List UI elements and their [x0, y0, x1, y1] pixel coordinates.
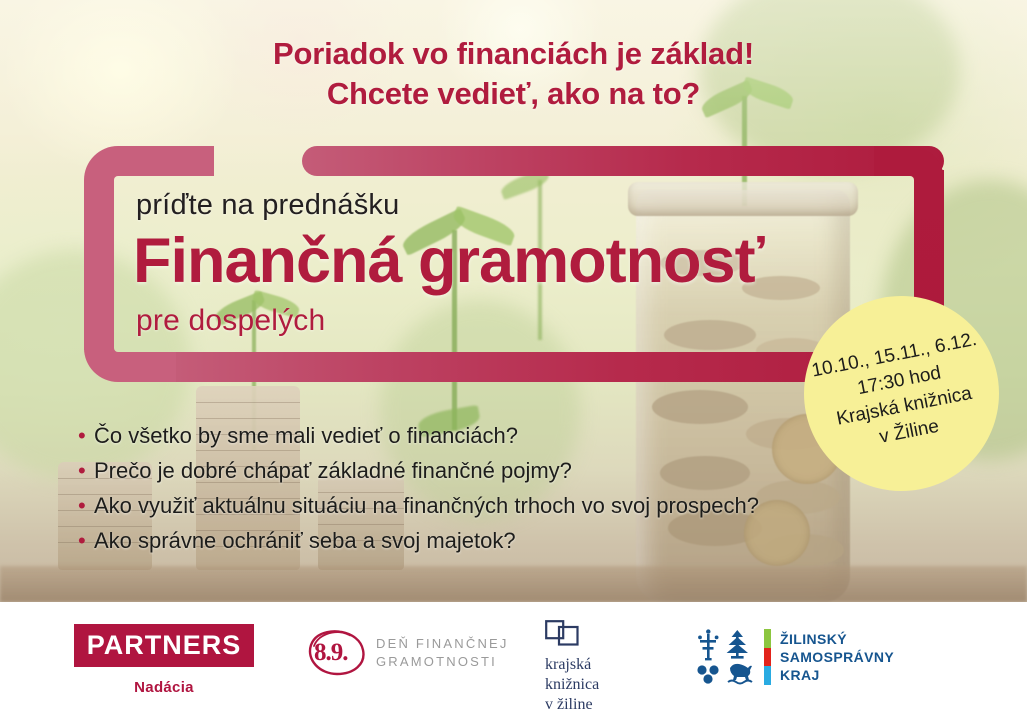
zsk-line-2: SAMOSPRÁVNY: [780, 648, 894, 666]
jar-coin: [652, 390, 748, 424]
kniznica-line-2: knižnica: [545, 675, 599, 695]
logo-partners: PARTNERS Nadácia: [74, 624, 254, 696]
coin-edge: [196, 402, 300, 403]
list-item: • Prečo je dobré chápať základné finančn…: [78, 457, 759, 484]
kniznica-wordmark: krajská knižnica v žiline: [545, 655, 599, 715]
kniznica-line-3: v žiline: [545, 695, 599, 715]
logo-krajska-kniznica: krajská knižnica v žiline: [545, 620, 599, 715]
list-item-label: Čo všetko by sme mali vedieť o financiác…: [94, 422, 518, 449]
list-item: • Čo všetko by sme mali vedieť o financi…: [78, 422, 759, 449]
partners-foundation-label: Nadácia: [74, 679, 254, 696]
list-item-label: Ako využiť aktuálnu situáciu na finančný…: [94, 492, 759, 519]
headline-line-1: Poriadok vo financiách je základ!: [0, 34, 1027, 74]
table-surface: [0, 566, 1027, 602]
jar-coin: [756, 480, 840, 514]
hand-drawn-circle-icon: 8.9.: [306, 628, 368, 678]
frame-top-bar: [302, 146, 944, 176]
logo-strip: PARTNERS Nadácia 8.9. DEŇ FINANČNEJ GRAM…: [0, 602, 1027, 720]
den-wordmark-line-2: GRAMOTNOSTI: [376, 653, 509, 671]
zsk-line-3: KRAJ: [780, 666, 894, 684]
event-info-badge: 10.10., 15.11., 6.12. 17:30 hod Krajská …: [804, 296, 999, 491]
list-item: • Ako správne ochrániť seba a svoj majet…: [78, 527, 759, 554]
frame-top-right-corner: [874, 146, 944, 208]
logo-den-financnej-gramotnosti: 8.9. DEŇ FINANČNEJ GRAMOTNOSTI: [306, 628, 509, 678]
poster: Poriadok vo financiách je základ! Chcete…: [0, 0, 1027, 720]
list-item: • Ako využiť aktuálnu situáciu na finanč…: [78, 492, 759, 519]
subtitle-text: pre dospelých: [136, 304, 325, 338]
bullet-marker-icon: •: [78, 425, 94, 447]
bullet-marker-icon: •: [78, 530, 94, 552]
event-info-badge-text: 10.10., 15.11., 6.12. 17:30 hod Krajská …: [809, 326, 993, 460]
kniznica-line-1: krajská: [545, 655, 599, 675]
partners-wordmark: PARTNERS: [74, 624, 254, 667]
den-date-number: 8.9.: [314, 639, 348, 667]
headline-line-2: Chcete vedieť, ako na to?: [0, 74, 1027, 114]
den-wordmark: DEŇ FINANČNEJ GRAMOTNOSTI: [376, 635, 509, 671]
zsk-wordmark: ŽILINSKÝ SAMOSPRÁVNY KRAJ: [780, 630, 894, 684]
list-item-label: Prečo je dobré chápať základné finančné …: [94, 457, 572, 484]
zsk-line-1: ŽILINSKÝ: [780, 630, 894, 648]
jar-coin: [764, 534, 844, 566]
bullet-marker-icon: •: [78, 460, 94, 482]
footer: PARTNERS Nadácia 8.9. DEŇ FINANČNEJ GRAM…: [0, 602, 1027, 720]
coin-edge: [196, 418, 300, 419]
zsk-heraldic-symbols-icon: [694, 628, 760, 686]
headline: Poriadok vo financiách je základ! Chcete…: [0, 34, 1027, 114]
bullet-marker-icon: •: [78, 495, 94, 517]
list-item-label: Ako správne ochrániť seba a svoj majetok…: [94, 527, 516, 554]
kicker-text: príďte na prednášku: [136, 189, 399, 222]
zsk-color-bars-icon: [764, 629, 771, 685]
open-book-squares-icon: [545, 620, 579, 646]
page-title: Finančná gramotnosť: [133, 226, 764, 296]
den-wordmark-line-1: DEŇ FINANČNEJ: [376, 635, 509, 653]
question-list: • Čo všetko by sme mali vedieť o financi…: [78, 422, 759, 562]
logo-zilinsky-samospravny-kraj: ŽILINSKÝ SAMOSPRÁVNY KRAJ: [694, 628, 894, 686]
